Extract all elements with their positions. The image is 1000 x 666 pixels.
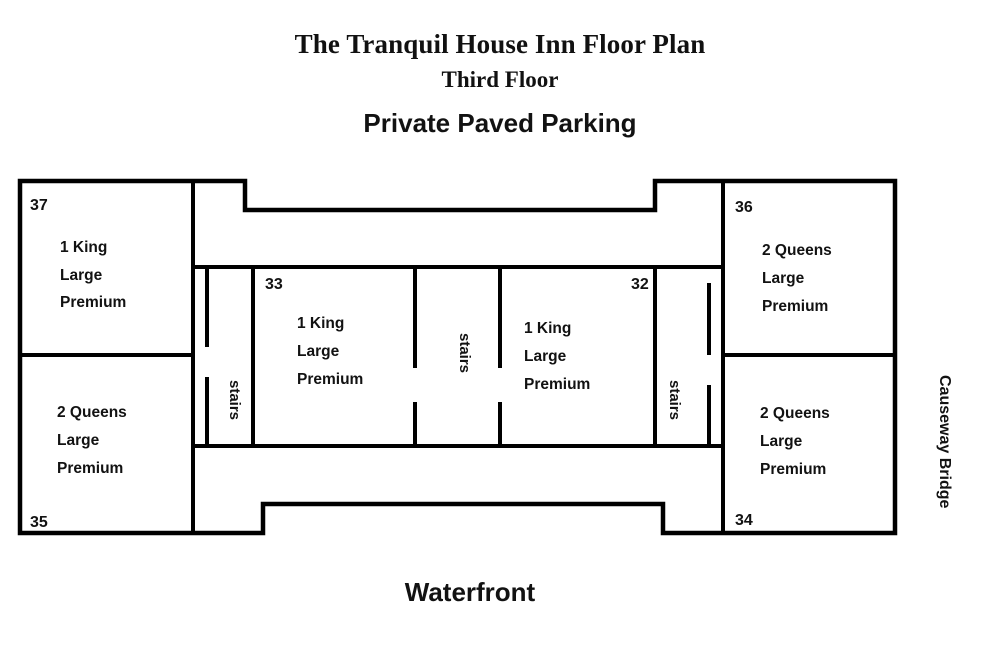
- room-37-beds: 1 King: [60, 239, 107, 256]
- room-32-number: 32: [631, 276, 649, 293]
- room-32: 32 1 King Large Premium: [524, 276, 649, 393]
- room-33: 33 1 King Large Premium: [265, 276, 363, 388]
- room-33-tier: Premium: [297, 371, 363, 388]
- floor-plan-page: The Tranquil House Inn Floor Plan Third …: [0, 0, 1000, 666]
- room-37-tier: Premium: [60, 294, 126, 311]
- room-37-number: 37: [30, 197, 48, 214]
- room-34-beds: 2 Queens: [760, 405, 830, 422]
- label-waterfront: Waterfront: [0, 577, 940, 608]
- room-37: 37 1 King Large Premium: [30, 197, 126, 311]
- room-33-size: Large: [297, 343, 340, 360]
- room-34: 2 Queens Large Premium 34: [735, 405, 830, 529]
- floor-plan-drawing: 37 1 King Large Premium 2 Queens Large P…: [0, 0, 1000, 666]
- room-35: 2 Queens Large Premium 35: [30, 404, 127, 531]
- room-37-size: Large: [60, 267, 103, 284]
- stairs-right-label: stairs: [666, 380, 683, 420]
- room-36-number: 36: [735, 199, 753, 216]
- room-35-tier: Premium: [57, 460, 123, 477]
- room-36-tier: Premium: [762, 298, 828, 315]
- room-36-beds: 2 Queens: [762, 242, 832, 259]
- room-34-tier: Premium: [760, 461, 826, 478]
- room-33-number: 33: [265, 276, 283, 293]
- room-36: 36 2 Queens Large Premium: [735, 199, 832, 315]
- stairs-left-label: stairs: [226, 380, 243, 420]
- room-35-size: Large: [57, 432, 100, 449]
- room-34-size: Large: [760, 433, 803, 450]
- room-32-size: Large: [524, 348, 567, 365]
- room-33-beds: 1 King: [297, 315, 344, 332]
- label-causeway-bridge: Causeway Bridge: [935, 375, 953, 508]
- stairs-center-label: stairs: [456, 333, 473, 373]
- room-35-beds: 2 Queens: [57, 404, 127, 421]
- room-36-size: Large: [762, 270, 805, 287]
- room-34-number: 34: [735, 512, 753, 529]
- room-35-number: 35: [30, 514, 48, 531]
- room-32-tier: Premium: [524, 376, 590, 393]
- room-32-beds: 1 King: [524, 320, 571, 337]
